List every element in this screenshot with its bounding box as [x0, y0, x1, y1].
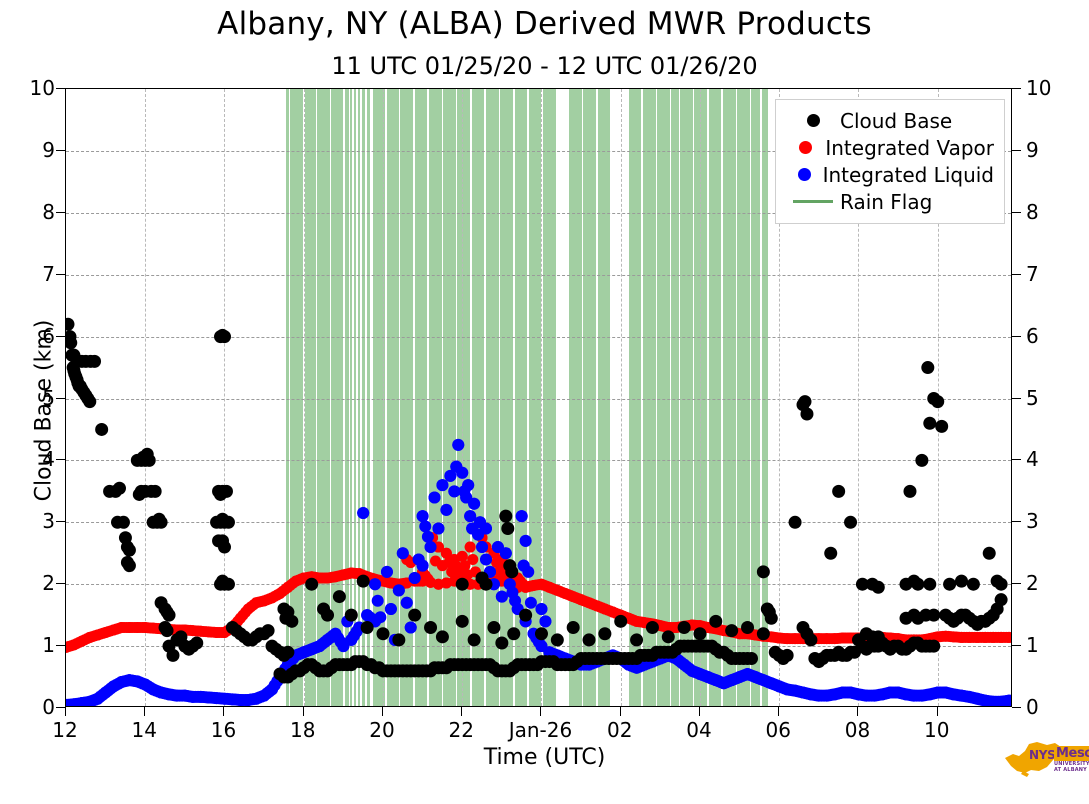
x-axis-tick-label: 12: [52, 718, 77, 742]
legend-marker-integrated-liquid-icon: [786, 168, 823, 181]
nys-mesonet-logo: NYS Mesonet UNIVERSITY AT ALBANY: [1003, 740, 1081, 780]
x-axis-tick-label: 06: [765, 718, 790, 742]
y-axis-tick-right: [1012, 521, 1021, 522]
x-axis-tick: [620, 707, 621, 716]
legend-item-integrated-vapor[interactable]: Integrated Vapor: [786, 134, 994, 161]
y-axis-tick-label-right: 1: [1026, 633, 1039, 657]
y-axis-tick-left: [56, 707, 65, 708]
chart-title: Albany, NY (ALBA) Derived MWR Products: [0, 6, 1089, 42]
y-axis-tick-left: [56, 645, 65, 646]
x-axis-tick: [937, 707, 938, 716]
x-axis-tick: [144, 707, 145, 716]
x-axis-tick: [303, 707, 304, 716]
y-axis-tick-right: [1012, 583, 1021, 584]
legend-item-rain-flag[interactable]: Rain Flag: [786, 188, 994, 215]
y-axis-tick-left: [56, 398, 65, 399]
mwr-products-chart: Albany, NY (ALBA) Derived MWR Products 1…: [0, 0, 1089, 804]
y-axis-tick-label-right: 3: [1026, 509, 1039, 533]
y-axis-tick-right: [1012, 645, 1021, 646]
y-axis-tick-label-right: 9: [1026, 138, 1039, 162]
x-axis-tick: [540, 707, 541, 716]
legend-label-integrated-vapor: Integrated Vapor: [825, 136, 994, 160]
x-axis-tick-label: 14: [132, 718, 157, 742]
y-axis-tick-left: [56, 521, 65, 522]
logo-text-nys: NYS: [1029, 748, 1055, 762]
x-axis-tick-label: 22: [448, 718, 473, 742]
y-axis-tick-label-left: 8: [42, 200, 55, 224]
legend-item-integrated-liquid[interactable]: Integrated Liquid: [786, 161, 994, 188]
y-axis-tick-label-right: 7: [1026, 262, 1039, 286]
y-axis-tick-right: [1012, 88, 1021, 89]
x-axis-tick: [382, 707, 383, 716]
y-axis-tick-label-right: 5: [1026, 386, 1039, 410]
x-axis-tick: [461, 707, 462, 716]
x-axis-tick-label: 20: [369, 718, 394, 742]
legend-label-integrated-liquid: Integrated Liquid: [823, 163, 994, 187]
y-axis-tick-right: [1012, 336, 1021, 337]
y-axis-tick-right: [1012, 398, 1021, 399]
y-axis-tick-label-left: 9: [42, 138, 55, 162]
x-axis-tick: [778, 707, 779, 716]
y-axis-tick-label-left: 0: [42, 695, 55, 719]
y-axis-tick-left: [56, 274, 65, 275]
y-axis-tick-left: [56, 150, 65, 151]
logo-text-subtitle: UNIVERSITY AT ALBANY: [1054, 761, 1089, 773]
x-axis-tick-label: 04: [686, 718, 711, 742]
y-axis-tick-label-left: 2: [42, 571, 55, 595]
x-axis-tick-label: 18: [290, 718, 315, 742]
y-axis-tick-left: [56, 583, 65, 584]
x-axis-tick-label: 16: [211, 718, 236, 742]
y-axis-tick-right: [1012, 707, 1021, 708]
y-axis-tick-label-right: 4: [1026, 447, 1039, 471]
x-axis-tick: [223, 707, 224, 716]
y-axis-label-left: Cloud Base (km): [32, 271, 57, 551]
chart-subtitle: 11 UTC 01/25/20 - 12 UTC 01/26/20: [0, 52, 1089, 80]
y-axis-tick-right: [1012, 212, 1021, 213]
x-axis-tick: [65, 707, 66, 716]
x-axis-label: Time (UTC): [0, 745, 1089, 770]
legend-marker-cloud-base-icon: [786, 114, 840, 127]
x-axis-tick-label: 10: [924, 718, 949, 742]
y-axis-tick-label-right: 0: [1026, 695, 1039, 719]
y-axis-tick-left: [56, 336, 65, 337]
y-axis-tick-right: [1012, 150, 1021, 151]
legend-label-cloud-base: Cloud Base: [840, 109, 952, 133]
legend-marker-integrated-vapor-icon: [786, 141, 825, 154]
y-axis-tick-left: [56, 212, 65, 213]
legend-item-cloud-base[interactable]: Cloud Base: [786, 107, 994, 134]
y-axis-tick-right: [1012, 274, 1021, 275]
x-axis-tick-label: 08: [845, 718, 870, 742]
x-axis-tick: [857, 707, 858, 716]
y-axis-tick-right: [1012, 459, 1021, 460]
y-axis-tick-label-right: 2: [1026, 571, 1039, 595]
y-axis-tick-label-right: 8: [1026, 200, 1039, 224]
x-axis-tick-label: Jan-26: [509, 718, 573, 742]
y-axis-tick-left: [56, 459, 65, 460]
legend-label-rain-flag: Rain Flag: [840, 190, 932, 214]
legend-marker-rain-flag-icon: [786, 200, 840, 203]
x-axis-tick: [699, 707, 700, 716]
chart-legend[interactable]: Cloud Base Integrated Vapor Integrated L…: [775, 99, 1005, 224]
y-axis-tick-label-left: 1: [42, 633, 55, 657]
y-axis-tick-label-right: 6: [1026, 324, 1039, 348]
x-axis-tick-label: 02: [607, 718, 632, 742]
y-axis-tick-left: [56, 88, 65, 89]
y-axis-tick-label-left: 10: [30, 76, 55, 100]
y-axis-tick-label-right: 10: [1026, 76, 1051, 100]
logo-text-mesonet: Mesonet: [1054, 746, 1089, 761]
